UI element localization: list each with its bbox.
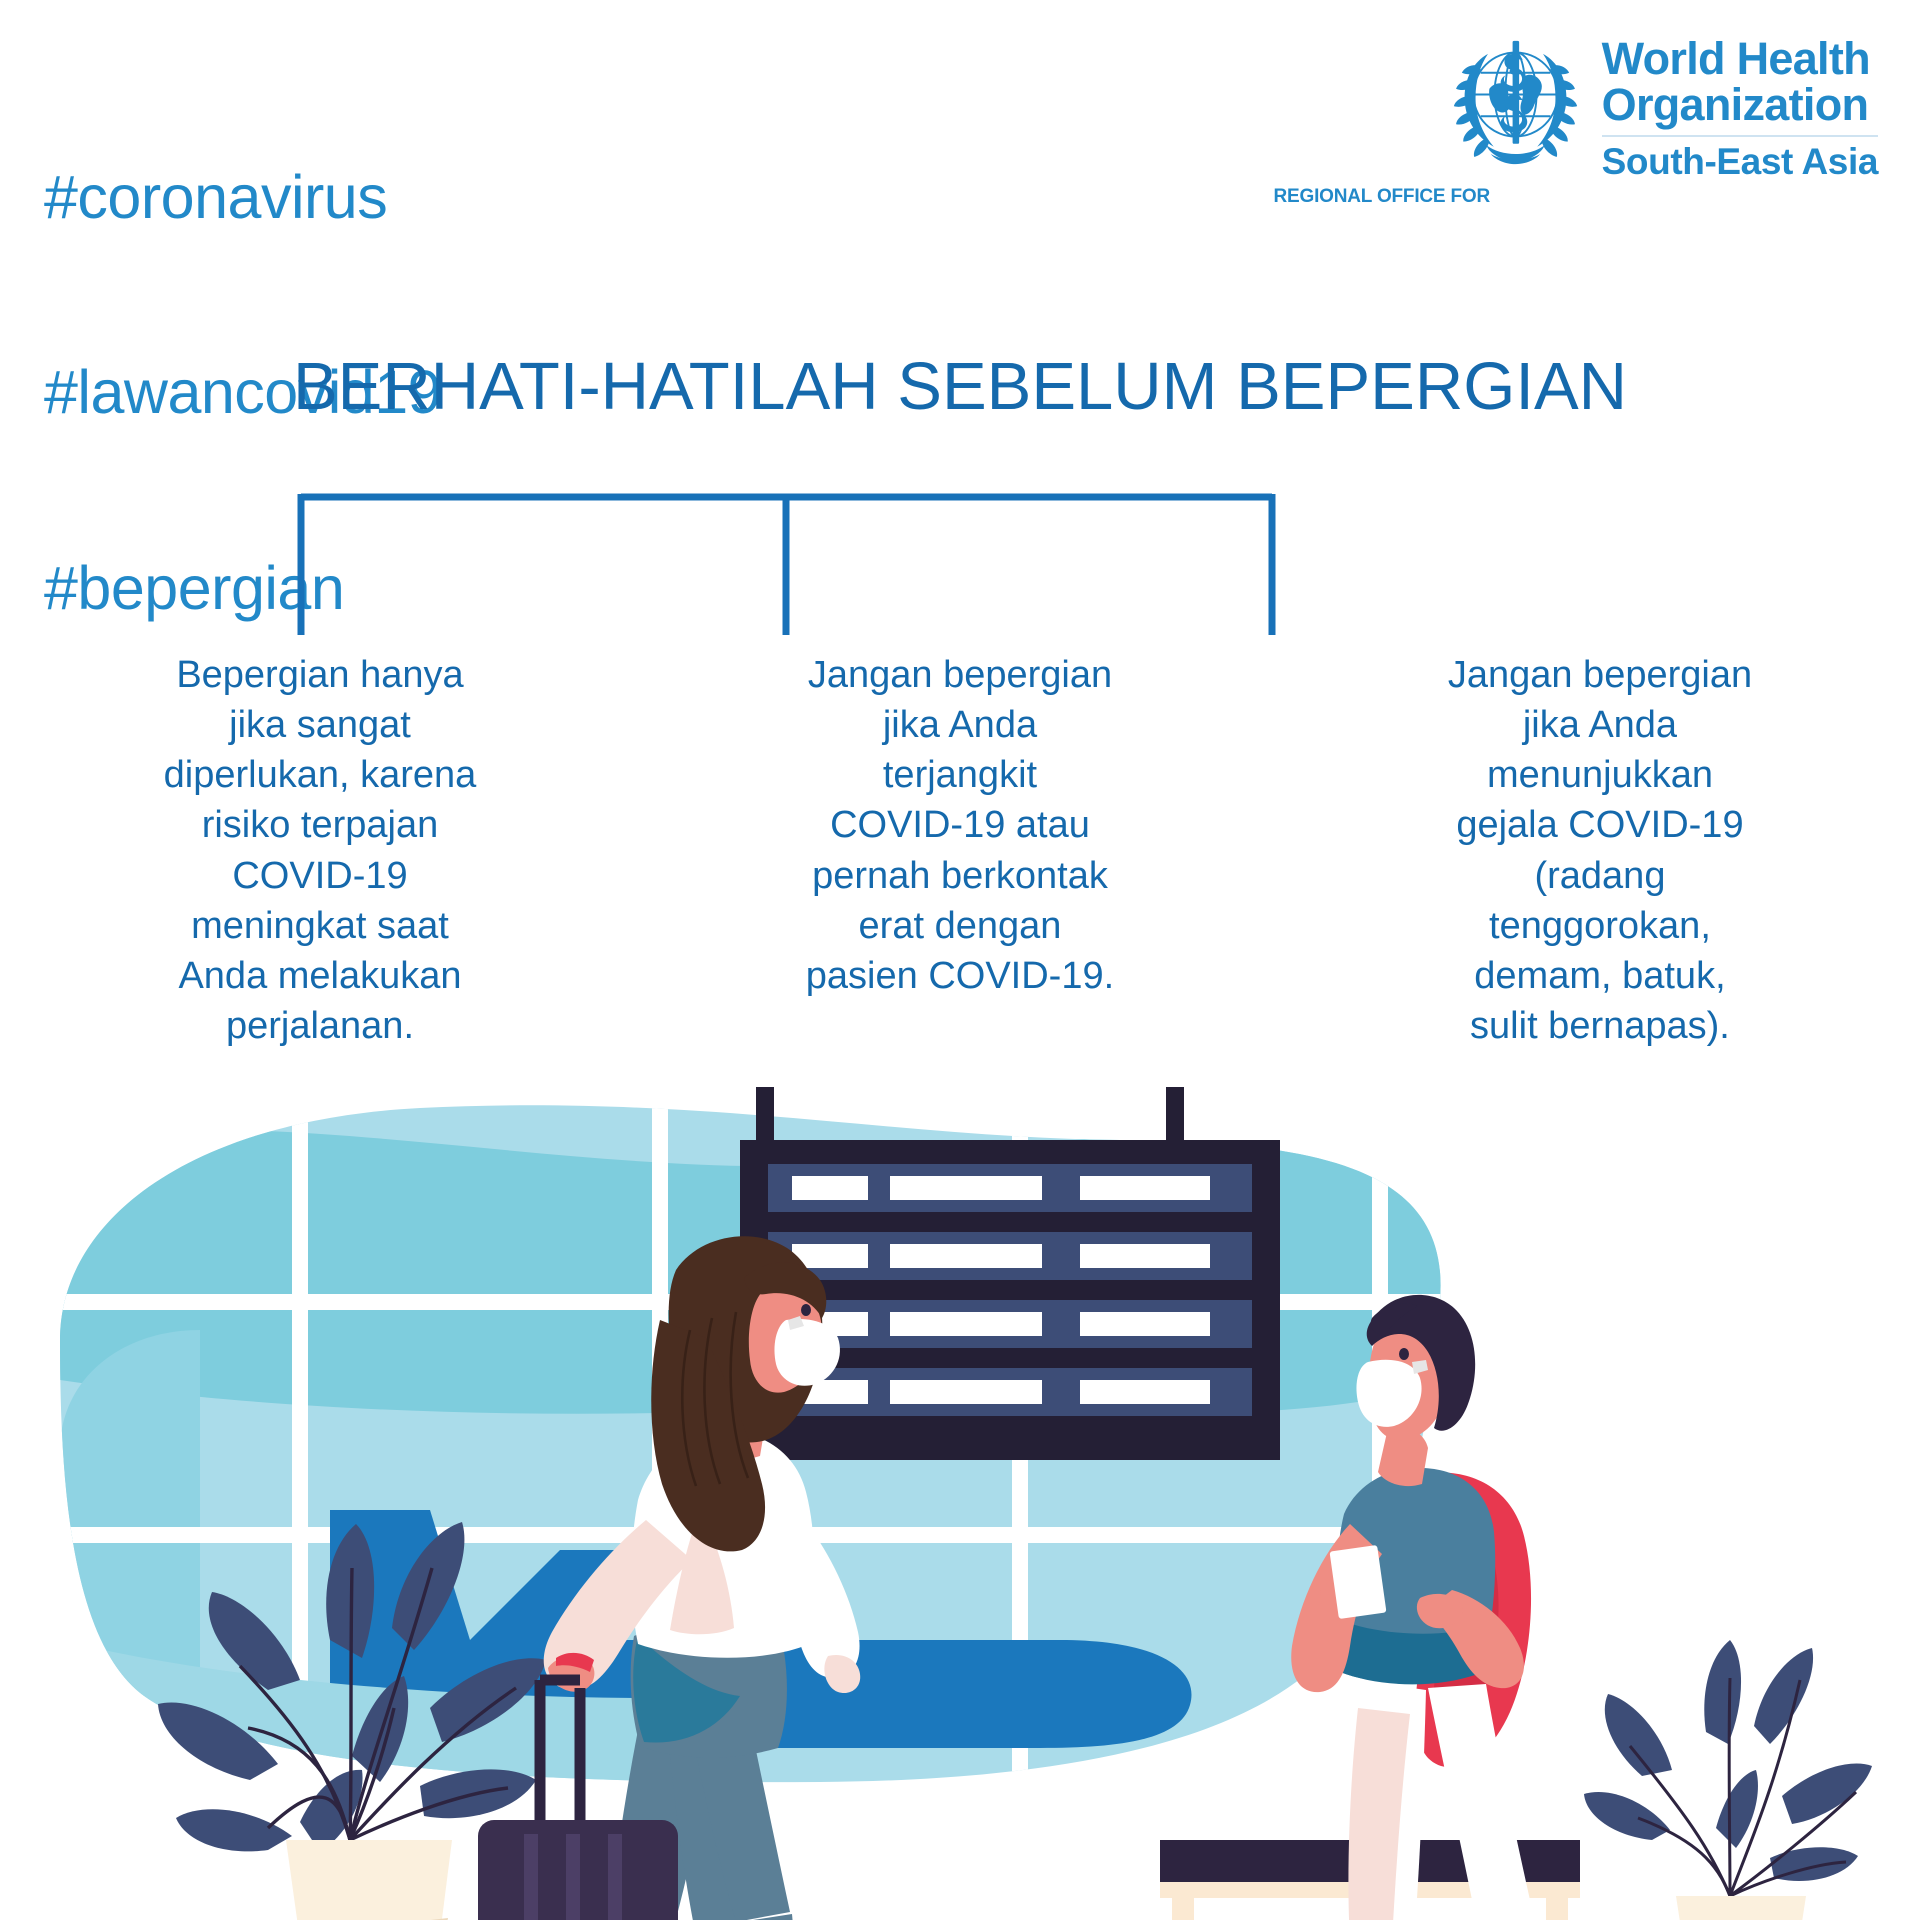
board-hanger-left (756, 1087, 774, 1147)
man-eye (1399, 1348, 1409, 1360)
plant-pot (286, 1840, 452, 1920)
potted-plant-right (1584, 1640, 1872, 1920)
bracket-connector (0, 480, 1920, 645)
plant-pot (1676, 1896, 1806, 1920)
page-title: BERHATI-HATILAH SEBELUM BEPERGIAN (0, 348, 1920, 425)
who-name-line1: World Health (1602, 36, 1878, 82)
infographic-poster: #coronavirus #lawancovid19 #bepergian (0, 0, 1920, 1920)
airport-scene (0, 1080, 1920, 1920)
advice-column-2: Jangan bepergian jika Anda terjangkit CO… (640, 650, 1280, 1051)
board-cell-time (1080, 1312, 1210, 1336)
board-row-1 (768, 1164, 1252, 1212)
board-cell-code (792, 1176, 868, 1200)
bench-leg-left (1172, 1882, 1194, 1920)
airport-illustration (0, 1080, 1920, 1920)
who-emblem-icon (1443, 22, 1588, 167)
woman-eye (801, 1304, 811, 1316)
boarding-pass (1330, 1545, 1387, 1619)
board-cell-dest (890, 1380, 1042, 1404)
board-cell-time (1080, 1244, 1210, 1268)
advice-column-3: Jangan bepergian jika Anda menunjukkan g… (1280, 650, 1920, 1051)
board-row-3 (768, 1300, 1252, 1348)
board-cell-time (1080, 1380, 1210, 1404)
bench-leg-right (1546, 1882, 1568, 1920)
advice-columns: Bepergian hanya jika sangat diperlukan, … (0, 650, 1920, 1051)
board-cell-dest (890, 1244, 1042, 1268)
who-region: South-East Asia (1602, 141, 1878, 183)
board-row-2 (768, 1232, 1252, 1280)
who-divider (1602, 135, 1878, 137)
board-row-4 (768, 1368, 1252, 1416)
board-cell-dest (890, 1176, 1042, 1200)
hashtag-coronavirus: #coronavirus (44, 165, 441, 230)
board-cell-dest (890, 1312, 1042, 1336)
who-name-line2: Organization (1602, 82, 1878, 128)
board-cell-time (1080, 1176, 1210, 1200)
who-logo: World Health Organization South-East Asi… (1443, 22, 1878, 183)
who-regional-prefix: REGIONAL OFFICE FOR (1274, 186, 1490, 208)
board-hanger-right (1166, 1087, 1184, 1147)
departure-board (740, 1087, 1280, 1460)
who-wordmark: World Health Organization South-East Asi… (1602, 22, 1878, 183)
advice-column-1: Bepergian hanya jika sangat diperlukan, … (0, 650, 640, 1051)
